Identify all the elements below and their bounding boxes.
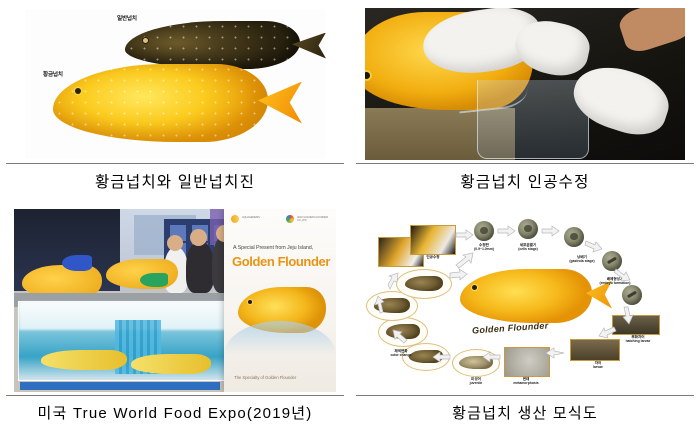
texture-dots (53, 64, 268, 142)
fish-eye (365, 72, 370, 79)
fish-model-blue (62, 255, 92, 271)
poster-logo-right-text: JEJU GOLDEN FLOUNDER CO.,LTD (297, 216, 336, 222)
tank-base-tray (20, 382, 220, 390)
poster-logo-left-text: AQUAGENESIS (242, 216, 260, 219)
poster-subtitle: A Special Present from Jeju Island, (233, 245, 313, 251)
fish-eye (248, 300, 252, 304)
expo-poster: AQUAGENESIS JEJU GOLDEN FLOUNDER CO.,LTD… (224, 209, 336, 392)
panel-production-schematic: Golden Flounder 인공수정 (350, 200, 700, 436)
diagram-content: Golden Flounder 인공수정 (364, 207, 686, 395)
panel-artificial-insemination: 황금넙치 인공수정 (350, 0, 700, 200)
visitor (186, 241, 214, 293)
label-golden-flounder: 황금넙치 (43, 70, 63, 78)
texture-dots (125, 21, 300, 69)
poster-footer: The Specialty of Golden Flounder (234, 375, 296, 380)
fish-eye (143, 38, 148, 43)
live-golden-flounder (131, 354, 211, 374)
figure-sheet: 일반넙치 황금넙치 황금넙치와 일반넙치진 (0, 0, 700, 436)
company-logo-icon (286, 215, 294, 223)
photo-golden-vs-common: 일반넙치 황금넙치 (0, 0, 350, 163)
golden-flounder-image (53, 64, 268, 142)
photo-artificial-insemination (350, 0, 700, 163)
panel-grid: 일반넙치 황금넙치 황금넙치와 일반넙치진 (0, 0, 700, 436)
panel-expo: AQUAGENESIS JEJU GOLDEN FLOUNDER CO.,LTD… (0, 200, 350, 436)
visitor-head (167, 235, 183, 251)
fish-model-green (140, 273, 168, 287)
aquagenesis-logo-icon (231, 215, 239, 223)
caption-panel-1: 황금넙치와 일반넙치진 (0, 164, 350, 192)
water-splash-graphic (224, 321, 336, 355)
cycle-arrows (364, 207, 686, 395)
common-flounder-image (125, 21, 300, 69)
fish-eye (75, 88, 81, 94)
caption-panel-2: 황금넙치 인공수정 (350, 164, 700, 192)
visitor-head (190, 229, 207, 246)
caption-panel-3: 미국 True World Food Expo(2019년) (0, 396, 350, 423)
label-common-flounder: 일반넙치 (117, 14, 137, 22)
photo-content-flounders: 일반넙치 황금넙치 (25, 9, 325, 159)
panel-golden-vs-common: 일반넙치 황금넙치 황금넙치와 일반넙치진 (0, 0, 350, 200)
live-golden-flounder (41, 350, 127, 370)
photo-content-insemination (365, 8, 685, 160)
diagram-production-cycle: Golden Flounder 인공수정 (350, 200, 700, 395)
measuring-beaker (477, 80, 589, 159)
live-fish-tank (18, 301, 226, 381)
caption-panel-4: 황금넙치 생산 모식도 (350, 396, 700, 423)
poster-title: Golden Flounder (232, 254, 330, 269)
photo-expo: AQUAGENESIS JEJU GOLDEN FLOUNDER CO.,LTD… (0, 200, 350, 395)
photo-content-expo: AQUAGENESIS JEJU GOLDEN FLOUNDER CO.,LTD… (14, 209, 336, 392)
